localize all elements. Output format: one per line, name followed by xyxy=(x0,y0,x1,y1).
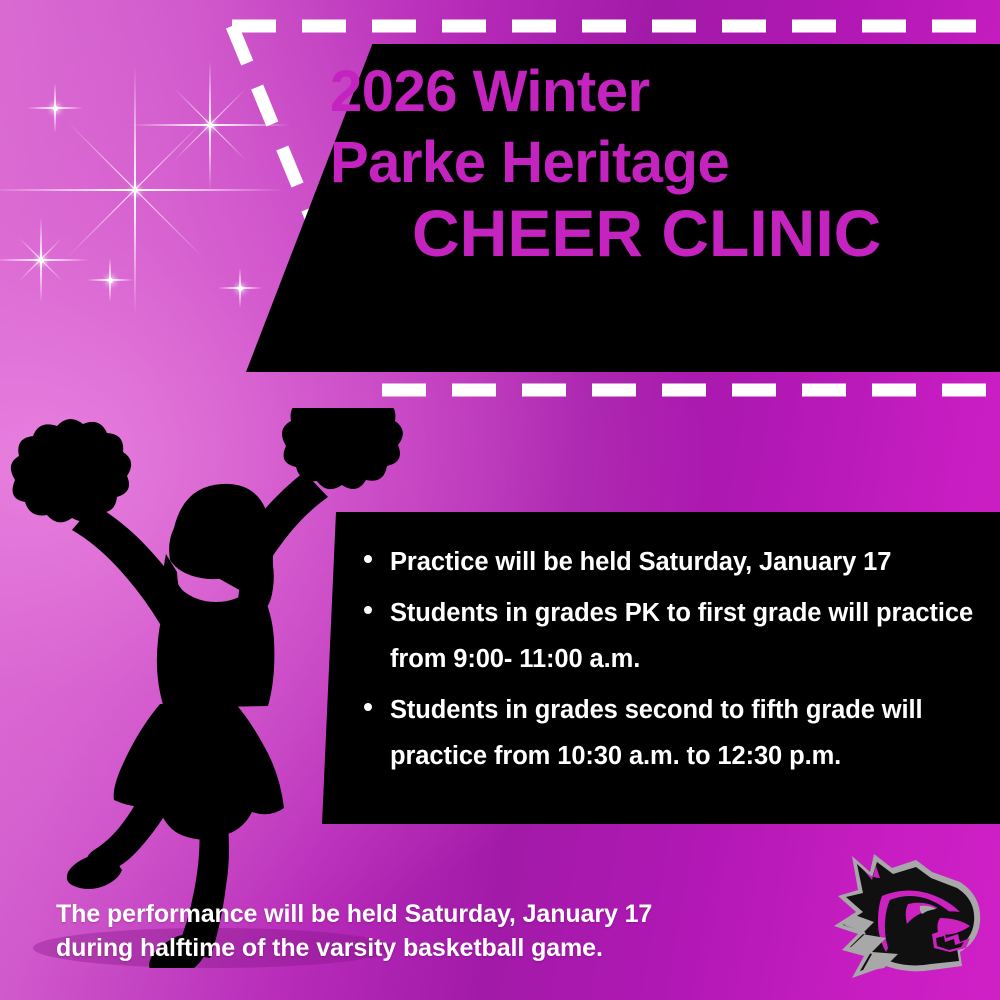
list-item: Students in grades PK to first grade wil… xyxy=(360,591,1000,682)
sparkle-large-icon xyxy=(0,65,285,315)
footer-caption: The performance will be held Saturday, J… xyxy=(56,898,716,965)
title-line-2: Parke Heritage xyxy=(330,133,1000,192)
title-line-3: CHEER CLINIC xyxy=(330,200,1000,267)
wolf-mascot-logo xyxy=(812,838,992,993)
list-item: Practice will be held Saturday, January … xyxy=(360,540,1000,585)
sparkle-medium-icon xyxy=(130,60,290,190)
sparkle-small-c-icon xyxy=(87,258,133,302)
sparkle-small-a-icon xyxy=(0,217,89,303)
sparkle-small-b-icon xyxy=(27,83,83,133)
sparkle-small-d-icon xyxy=(218,268,262,308)
page-title: 2026 Winter Parke Heritage CHEER CLINIC xyxy=(330,62,1000,268)
flyer-canvas: 2026 Winter Parke Heritage CHEER CLINIC xyxy=(0,0,1000,1000)
caption-line-1: The performance will be held Saturday, J… xyxy=(56,898,716,932)
caption-line-2: during halftime of the varsity basketbal… xyxy=(56,932,716,966)
details-list: Practice will be held Saturday, January … xyxy=(360,540,1000,785)
list-item: Students in grades second to fifth grade… xyxy=(360,688,1000,779)
title-line-1: 2026 Winter xyxy=(330,62,1000,121)
